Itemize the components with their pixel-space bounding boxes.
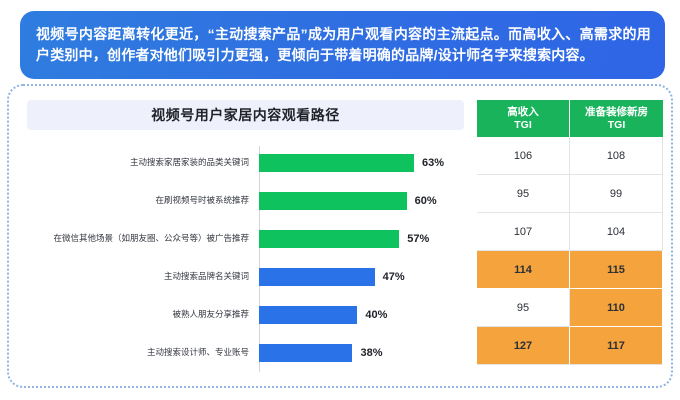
content-card: 视频号用户家居内容观看路径 主动搜索家居家装的品类关键词63%在刷视频号时被系统… bbox=[7, 84, 673, 388]
tgi-cell-highlight: 127 bbox=[477, 327, 570, 365]
table-row: 106108 bbox=[477, 137, 663, 175]
bar-track: 63% bbox=[255, 144, 464, 182]
bar-track: 38% bbox=[255, 334, 464, 372]
bar bbox=[259, 230, 399, 248]
bar-category-label: 主动搜索设计师、专业账号 bbox=[27, 347, 255, 359]
bar bbox=[259, 268, 375, 286]
chart-title: 视频号用户家居内容观看路径 bbox=[151, 105, 340, 125]
table-row: 107104 bbox=[477, 213, 663, 251]
table-row: 114115 bbox=[477, 251, 663, 289]
bar bbox=[259, 192, 407, 210]
bar-row: 主动搜索品牌名关键词47% bbox=[27, 258, 464, 296]
bar-row: 在微信其他场景（如朋友圈、公众号等）被广告推荐57% bbox=[27, 220, 464, 258]
tgi-cell: 99 bbox=[570, 175, 663, 213]
tgi-table-head: 高收入 TGI 准备装修新房 TGI bbox=[477, 100, 663, 137]
bar-value-label: 38% bbox=[360, 347, 382, 359]
tgi-cell-highlight: 115 bbox=[570, 251, 663, 289]
bar-value-label: 57% bbox=[407, 233, 429, 245]
tgi-col-header-new-home-line2: TGI bbox=[570, 119, 663, 132]
tgi-cell: 95 bbox=[477, 175, 570, 213]
bar-category-label: 主动搜索品牌名关键词 bbox=[27, 271, 255, 283]
tgi-col-header-new-home-line1: 准备装修新房 bbox=[585, 106, 648, 118]
bar-category-label: 在刷视频号时被系统推荐 bbox=[27, 195, 255, 207]
bar bbox=[259, 306, 357, 324]
chart-title-pill: 视频号用户家居内容观看路径 bbox=[27, 100, 464, 130]
tgi-col-header-high-income-line1: 高收入 bbox=[507, 106, 539, 118]
insight-banner: 视频号内容距离转化更近，“主动搜索产品”成为用户观看内容的主流起点。而高收入、高… bbox=[20, 11, 665, 79]
chart-panel: 视频号用户家居内容观看路径 主动搜索家居家装的品类关键词63%在刷视频号时被系统… bbox=[27, 100, 464, 374]
bar-track: 47% bbox=[255, 258, 464, 296]
tgi-cell-highlight: 110 bbox=[570, 289, 663, 327]
bar-track: 60% bbox=[255, 182, 464, 220]
bar-value-label: 40% bbox=[365, 309, 387, 321]
bar-row: 主动搜索设计师、专业账号38% bbox=[27, 334, 464, 372]
tgi-col-header-high-income-line2: TGI bbox=[477, 119, 569, 132]
tgi-table-body: 106108959910710411411595110127117 bbox=[477, 137, 663, 365]
tgi-cell: 108 bbox=[570, 137, 663, 175]
bar-row: 被熟人朋友分享推荐40% bbox=[27, 296, 464, 334]
tgi-cell: 95 bbox=[477, 289, 570, 327]
insight-banner-text: 视频号内容距离转化更近，“主动搜索产品”成为用户观看内容的主流起点。而高收入、高… bbox=[36, 24, 651, 66]
bar-category-label: 在微信其他场景（如朋友圈、公众号等）被广告推荐 bbox=[27, 233, 255, 245]
tgi-table-panel: 高收入 TGI 准备装修新房 TGI 106108959910710411411… bbox=[477, 100, 663, 374]
bar-track: 40% bbox=[255, 296, 464, 334]
table-row: 95110 bbox=[477, 289, 663, 327]
bar-track: 57% bbox=[255, 220, 464, 258]
bar-value-label: 63% bbox=[422, 157, 444, 169]
bar-category-label: 被熟人朋友分享推荐 bbox=[27, 309, 255, 321]
tgi-cell: 107 bbox=[477, 213, 570, 251]
tgi-col-header-high-income: 高收入 TGI bbox=[477, 100, 570, 137]
bar-row: 主动搜索家居家装的品类关键词63% bbox=[27, 144, 464, 182]
tgi-cell: 106 bbox=[477, 137, 570, 175]
bar bbox=[259, 344, 352, 362]
bar bbox=[259, 154, 414, 172]
tgi-table-header-row: 高收入 TGI 准备装修新房 TGI bbox=[477, 100, 663, 137]
bar-value-label: 60% bbox=[415, 195, 437, 207]
tgi-cell-highlight: 117 bbox=[570, 327, 663, 365]
bar-value-label: 47% bbox=[383, 271, 405, 283]
bar-row: 在刷视频号时被系统推荐60% bbox=[27, 182, 464, 220]
bar-category-label: 主动搜索家居家装的品类关键词 bbox=[27, 157, 255, 169]
table-row: 9599 bbox=[477, 175, 663, 213]
tgi-table: 高收入 TGI 准备装修新房 TGI 106108959910710411411… bbox=[477, 100, 663, 365]
tgi-col-header-new-home: 准备装修新房 TGI bbox=[570, 100, 663, 137]
table-row: 127117 bbox=[477, 327, 663, 365]
tgi-cell-highlight: 114 bbox=[477, 251, 570, 289]
tgi-cell: 104 bbox=[570, 213, 663, 251]
bar-chart: 主动搜索家居家装的品类关键词63%在刷视频号时被系统推荐60%在微信其他场景（如… bbox=[27, 144, 464, 374]
